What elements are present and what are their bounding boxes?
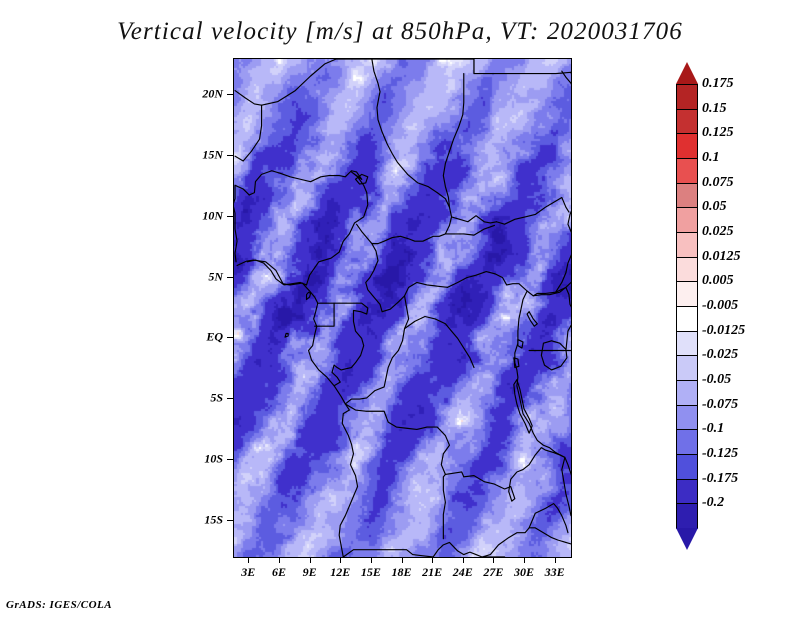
longitude-label: 12E (330, 565, 350, 580)
longitude-label: 27E (483, 565, 503, 580)
longitude-label: 18E (391, 565, 411, 580)
colorbar-tick-label: 0.0125 (702, 249, 741, 265)
latitude-tick (227, 337, 233, 338)
latitude-label: EQ (181, 330, 223, 345)
longitude-tick (248, 557, 249, 563)
latitude-tick (227, 459, 233, 460)
border-polyline (562, 71, 571, 132)
colorbar-tick-label: -0.075 (702, 397, 738, 413)
longitude-label: 24E (453, 565, 473, 580)
colorbar-segment (676, 183, 698, 209)
latitude-label: 15N (181, 148, 223, 163)
colorbar-min-arrow (676, 528, 698, 550)
latitude-tick (227, 398, 233, 399)
latitude-tick (227, 216, 233, 217)
colorbar-segment (676, 503, 698, 529)
country-borders-overlay (234, 59, 571, 557)
colorbar-tick-label: 0.025 (702, 224, 734, 240)
colorbar-segment (676, 158, 698, 184)
border-polyline (464, 448, 565, 501)
colorbar-segment (676, 232, 698, 258)
longitude-label: 30E (514, 565, 534, 580)
border-polyline (405, 317, 474, 368)
border-polyline (315, 303, 334, 326)
colorbar-segment (676, 429, 698, 455)
longitude-label: 9E (303, 565, 317, 580)
colorbar-segment (676, 281, 698, 307)
border-polyline (345, 404, 463, 477)
border-polyline (382, 282, 447, 311)
border-polyline (556, 144, 571, 292)
border-polyline (235, 91, 262, 106)
colorbar-tick-label: -0.125 (702, 446, 738, 462)
latitude-tick (227, 155, 233, 156)
colorbar-tick-label: -0.005 (702, 298, 738, 314)
longitude-label: 6E (272, 565, 286, 580)
border-polyline (336, 59, 451, 244)
colorbar-tick-label: -0.2 (702, 495, 724, 511)
longitude-label: 21E (422, 565, 442, 580)
border-polyline (318, 303, 368, 386)
longitude-tick (524, 557, 525, 563)
colorbar-tick-label: -0.0125 (702, 323, 745, 339)
longitude-tick (340, 557, 341, 563)
border-polyline (343, 550, 433, 557)
border-polyline (237, 260, 358, 557)
colorbar-segment (676, 355, 698, 381)
colorbar-segment (676, 306, 698, 332)
border-polyline (235, 105, 262, 161)
border-polyline (541, 341, 567, 370)
longitude-tick (279, 557, 280, 563)
colorbar-segment (676, 405, 698, 431)
colorbar-tick-label: 0.175 (702, 76, 734, 92)
border-polyline (566, 287, 571, 350)
longitude-tick (371, 557, 372, 563)
colorbar-tick-label: 0.125 (702, 125, 734, 141)
longitude-label: 15E (361, 565, 381, 580)
latitude-label: 20N (181, 87, 223, 102)
chart-canvas: Vertical velocity [m/s] at 850hPa, VT: 2… (0, 0, 800, 618)
longitude-label: 3E (241, 565, 255, 580)
border-polyline (447, 272, 571, 296)
border-polyline (234, 185, 237, 262)
border-polyline (285, 334, 288, 338)
latitude-label: 5S (181, 391, 223, 406)
colorbar-segment (676, 109, 698, 135)
colorbar-tick-label: -0.025 (702, 347, 738, 363)
border-polyline (533, 287, 566, 296)
colorbar-segment (676, 84, 698, 110)
border-polyline (529, 351, 571, 375)
colorbar-segment (676, 380, 698, 406)
colorbar-segment (676, 454, 698, 480)
latitude-tick (227, 520, 233, 521)
attribution-footer: GrADS: IGES/COLA (6, 599, 112, 611)
colorbar-max-arrow (676, 62, 698, 84)
longitude-tick (402, 557, 403, 563)
longitude-tick (432, 557, 433, 563)
border-polyline (482, 528, 566, 557)
border-polyline (566, 542, 571, 557)
colorbar-tick-label: 0.05 (702, 199, 727, 215)
map-plot-area (233, 58, 572, 558)
longitude-tick (463, 557, 464, 563)
longitude-tick (493, 557, 494, 563)
border-polyline (235, 171, 362, 195)
latitude-label: 10S (181, 451, 223, 466)
border-polyline (307, 172, 368, 285)
colorbar-tick-label: 0.1 (702, 150, 720, 166)
colorbar-tick-label: 0.075 (702, 175, 734, 191)
border-polyline (443, 474, 445, 538)
colorbar-tick-label: -0.175 (702, 471, 738, 487)
border-polyline (452, 216, 497, 223)
latitude-label: 15S (181, 512, 223, 527)
longitude-tick (310, 557, 311, 563)
colorbar-segment (676, 207, 698, 233)
border-polyline (515, 291, 565, 457)
colorbar-segment (676, 257, 698, 283)
colorbar-tick-label: 0.005 (702, 273, 734, 289)
border-polyline (345, 296, 408, 404)
latitude-tick (227, 277, 233, 278)
border-polyline (518, 340, 523, 349)
border-polyline (527, 312, 537, 327)
border-polyline (496, 197, 569, 224)
colorbar-segment (676, 331, 698, 357)
border-polyline (262, 59, 337, 105)
colorbar-tick-label: -0.05 (702, 372, 731, 388)
latitude-label: 5N (181, 269, 223, 284)
border-polyline (445, 225, 494, 235)
colorbar (676, 62, 698, 550)
latitude-label: 10N (181, 208, 223, 223)
latitude-tick (227, 94, 233, 95)
border-polyline (562, 457, 571, 515)
border-polyline (433, 542, 482, 557)
border-polyline (366, 244, 382, 312)
border-polyline (372, 59, 571, 74)
longitude-tick (555, 557, 556, 563)
colorbar-tick-label: -0.1 (702, 421, 724, 437)
longitude-label: 33E (545, 565, 565, 580)
border-polyline (443, 74, 463, 208)
border-polyline (307, 292, 311, 299)
colorbar-tick-label: 0.15 (702, 101, 727, 117)
chart-title: Vertical velocity [m/s] at 850hPa, VT: 2… (0, 18, 800, 46)
colorbar-segment (676, 479, 698, 505)
colorbar-segment (676, 133, 698, 159)
